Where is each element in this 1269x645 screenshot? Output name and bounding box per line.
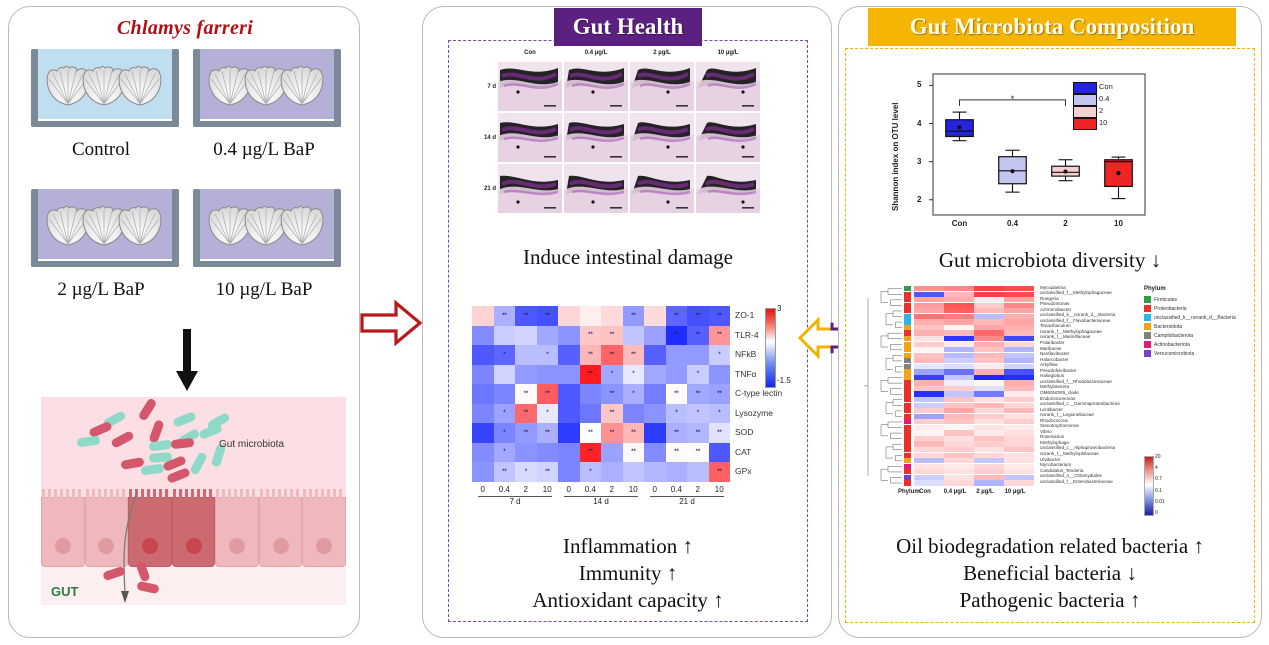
heatmap-cell: * — [709, 345, 731, 365]
phylum-color-bar — [904, 358, 911, 363]
conclusion-line: Inflammation ↑ — [448, 533, 808, 560]
taxa-heatmap-cell — [914, 342, 944, 347]
histology-image — [498, 62, 562, 111]
taxa-heatmap-cell — [914, 391, 944, 396]
heatmap-cell — [558, 306, 580, 326]
taxa-heatmap-cell — [974, 419, 1004, 424]
histology-image — [564, 113, 628, 162]
taxa-colorbar-tick: 0 — [1155, 510, 1158, 516]
boxplot-legend-swatch — [1073, 106, 1097, 118]
taxa-heatmap-cell — [974, 469, 1004, 474]
taxa-heatmap-cell — [974, 325, 1004, 330]
significance-marker: ** — [610, 410, 614, 417]
taxa-heatmap-cell — [944, 286, 974, 291]
taxa-heatmap-cell — [1004, 403, 1034, 408]
taxa-heatmap-cell — [914, 386, 944, 391]
significance-marker: * — [503, 410, 505, 417]
phylum-color-bar — [904, 292, 911, 297]
boxplot-legend-label: Con — [1099, 82, 1113, 91]
heatmap-cell: ** — [537, 306, 559, 326]
taxa-heatmap-cell — [914, 408, 944, 413]
taxa-heatmap-cell — [944, 375, 974, 380]
conclusion-line: Antioxidant capacity ↑ — [448, 587, 808, 614]
heatmap-cell — [687, 462, 709, 482]
heatmap-cell — [644, 443, 666, 463]
phylum-color-bar — [904, 369, 911, 374]
colorbar-max-label: 3 — [777, 304, 781, 313]
taxa-heatmap-cell — [974, 380, 1004, 385]
boxplot-y-tick: 5 — [917, 80, 921, 89]
boxplot-legend-swatch — [1073, 82, 1097, 94]
significance-marker: ** — [631, 429, 635, 436]
taxa-heatmap-cell — [1004, 425, 1034, 430]
taxa-heatmap-cell — [944, 358, 974, 363]
significance-marker: * — [503, 429, 505, 436]
histology-image — [498, 113, 562, 162]
taxa-heatmap-cell — [974, 330, 1004, 335]
phylum-legend-swatch — [1144, 350, 1151, 357]
phylum-color-bar — [904, 458, 911, 463]
heatmap-cell — [644, 326, 666, 346]
heatmap-cell — [709, 365, 731, 385]
heatmap-cell — [644, 306, 666, 326]
phylum-color-bar — [904, 441, 911, 446]
significance-marker: ** — [631, 312, 635, 319]
phylum-color-bar — [904, 347, 911, 352]
histology-row — [498, 113, 760, 162]
taxa-heatmap-cell — [914, 375, 944, 380]
heatmap-row-label: Lysozyme — [730, 404, 782, 424]
significance-marker: * — [589, 468, 591, 475]
heatmap-group-label: 21 d — [650, 497, 724, 506]
significance-marker: * — [718, 351, 720, 358]
histology-image — [564, 62, 628, 111]
taxa-heatmap-cell — [944, 436, 974, 441]
heatmap-cell: ** — [601, 384, 623, 404]
phylum-color-bar — [904, 391, 911, 396]
heatmap-cell: ** — [666, 326, 688, 346]
taxa-heatmap-cell — [1004, 414, 1034, 419]
mid-conclusions: Inflammation ↑Immunity ↑Antioxidant capa… — [448, 533, 808, 614]
heatmap-cell — [515, 326, 537, 346]
gut-submucosa — [41, 567, 346, 605]
heatmap-x-tick: 10 — [537, 485, 559, 494]
significance-marker: ** — [545, 390, 549, 397]
heatmap-cell — [515, 443, 537, 463]
taxa-heatmap-cell — [974, 353, 1004, 358]
significance-marker: ** — [696, 332, 700, 339]
taxa-heatmap-cell — [974, 303, 1004, 308]
taxa-row-label: norank_f__Methylophilaceae — [1040, 452, 1099, 457]
significance-marker: ** — [610, 351, 614, 358]
tank-wall-left — [193, 189, 200, 267]
tank-floor — [193, 121, 341, 127]
heatmap-cell — [644, 404, 666, 424]
taxa-heatmap-cell — [974, 297, 1004, 302]
conclusion-line: Immunity ↑ — [448, 560, 808, 587]
phylum-color-bar — [904, 408, 911, 413]
boxplot-x-label: Con — [933, 219, 986, 228]
heatmap-cell: ** — [687, 384, 709, 404]
heatmap-cell — [472, 365, 494, 385]
heatmap-cell — [644, 384, 666, 404]
heatmap-cell: ** — [515, 423, 537, 443]
phylum-color-bar — [904, 464, 911, 469]
taxa-heatmap-cell — [1004, 330, 1034, 335]
phylum-legend-swatch — [1144, 305, 1151, 312]
taxa-heatmap-cell — [914, 330, 944, 335]
taxa-heatmap-cell — [1004, 430, 1034, 435]
heatmap-x-tick: 2 — [515, 485, 537, 494]
taxa-heatmap-cell — [1004, 447, 1034, 452]
taxa-heatmap-cell — [974, 447, 1004, 452]
heatmap-cell: * — [537, 345, 559, 365]
taxa-heatmap-cell — [944, 430, 974, 435]
taxa-heatmap-cell — [1004, 303, 1034, 308]
heatmap-cell — [623, 462, 645, 482]
significance-marker: ** — [502, 312, 506, 319]
heatmap-row-label: SOD — [730, 423, 782, 443]
taxa-x-label: Con — [910, 489, 940, 495]
taxa-row-label: Neoflavibacter — [1040, 352, 1069, 357]
taxa-heatmap-cell — [914, 380, 944, 385]
taxa-heatmap-cell — [944, 425, 974, 430]
taxa-x-label: 10 µg/L — [1000, 489, 1030, 495]
taxa-heatmap-cell — [944, 347, 974, 352]
epithelial-cell — [215, 497, 259, 567]
significance-marker: ** — [674, 429, 678, 436]
epithelial-cell — [259, 497, 303, 567]
boxplot-y-tick: 3 — [917, 157, 921, 166]
taxa-heatmap-cell — [944, 353, 974, 358]
gene-expression-heatmap: **************ZO-1**********TLR-4*******… — [472, 306, 782, 506]
heatmap-group-label: 14 d — [564, 497, 638, 506]
scallop-group — [207, 205, 315, 245]
heatmap-cell — [472, 423, 494, 443]
taxa-heatmap-cell — [974, 358, 1004, 363]
taxa-heatmap-cell — [944, 464, 974, 469]
heatmap-cell: ** — [666, 384, 688, 404]
significance-marker: ** — [696, 429, 700, 436]
heatmap-cell: ** — [580, 326, 602, 346]
taxa-heatmap-cell — [1004, 358, 1034, 363]
histology-col-label: 10 µg/L — [696, 50, 760, 56]
taxa-heatmap-cell — [1004, 314, 1034, 319]
taxa-heatmap-cell — [944, 342, 974, 347]
taxa-colorbar-tick: 0.7 — [1155, 476, 1162, 482]
boxplot-legend-swatch — [1073, 118, 1097, 130]
taxa-heatmap-cell — [974, 480, 1004, 485]
taxa-colorbar-tick: 20 — [1155, 454, 1161, 460]
taxa-heatmap-cell — [944, 391, 974, 396]
heatmap-cell: ** — [666, 443, 688, 463]
heatmap-cell: ** — [580, 345, 602, 365]
significance-marker: ** — [545, 429, 549, 436]
taxa-heatmap-cell — [974, 375, 1004, 380]
tank-bap-2 — [29, 189, 181, 267]
tank-bap-0.4 — [191, 49, 343, 127]
taxa-row-label: unclassified_c__Gammaproteobacteria — [1040, 402, 1120, 407]
phylum-color-bar — [904, 286, 911, 291]
taxa-heatmap-cell — [914, 369, 944, 374]
boxplot-x-label: 0.4 — [986, 219, 1039, 228]
heatmap-x-tick: 0 — [644, 485, 666, 494]
heatmap-cell — [558, 462, 580, 482]
heatmap-cell: * — [687, 404, 709, 424]
significance-marker: ** — [674, 312, 678, 319]
taxa-heatmap-cell — [914, 336, 944, 341]
taxa-row-label: Polaribacter — [1040, 341, 1065, 346]
taxa-heatmap-cell — [974, 441, 1004, 446]
heatmap-cell: ** — [580, 423, 602, 443]
phylum-color-bar — [904, 475, 911, 480]
histology-col-label: 2 µg/L — [630, 50, 694, 56]
heatmap-cell: * — [494, 345, 516, 365]
significance-marker: ** — [631, 351, 635, 358]
taxa-heatmap-cell — [914, 353, 944, 358]
cell-nucleus — [98, 538, 114, 554]
heatmap-x-tick: 0 — [472, 485, 494, 494]
heatmap-grid: **************ZO-1**********TLR-4*******… — [472, 306, 782, 482]
significance-marker: ** — [524, 390, 528, 397]
heatmap-x-tick: 0.4 — [580, 485, 602, 494]
heatmap-cell: * — [687, 365, 709, 385]
taxa-heatmap-cell — [1004, 391, 1034, 396]
histology-image — [630, 164, 694, 213]
banner-gut-health: Gut Health — [554, 8, 702, 46]
caption-intestinal-damage: Induce intestinal damage — [448, 245, 808, 270]
heatmap-cell: * — [709, 404, 731, 424]
boxplot-x-label: 2 — [1039, 219, 1092, 228]
heatmap-cell: ** — [494, 462, 516, 482]
heatmap-cell — [515, 365, 537, 385]
heatmap-row-label: CAT — [730, 443, 782, 463]
phylum-color-bar — [904, 469, 911, 474]
phylum-color-bar — [904, 297, 911, 302]
scallop-group — [207, 65, 315, 105]
taxa-heatmap-cell — [914, 325, 944, 330]
histology-row — [498, 62, 760, 111]
histology-col-label: 0.4 µg/L — [564, 50, 628, 56]
taxa-heatmap-cell — [944, 419, 974, 424]
tank-wall-right — [334, 189, 341, 267]
heatmap-cell: ** — [494, 306, 516, 326]
heatmap-cell — [494, 384, 516, 404]
heatmap-cell: ** — [709, 462, 731, 482]
taxa-heatmap-cell — [1004, 325, 1034, 330]
heatmap-cell — [472, 443, 494, 463]
significance-marker: ** — [545, 468, 549, 475]
heatmap-cell: ** — [709, 326, 731, 346]
tank-wall-right — [334, 49, 341, 127]
histology-image — [630, 62, 694, 111]
heatmap-cell — [623, 404, 645, 424]
taxa-colorbar — [1144, 456, 1154, 516]
heatmap-cell: ** — [687, 326, 709, 346]
heatmap-cell — [515, 345, 537, 365]
significance-marker: * — [546, 410, 548, 417]
heatmap-cell: ** — [580, 443, 602, 463]
heatmap-cell — [558, 423, 580, 443]
taxa-heatmap-cell — [914, 292, 944, 297]
taxa-heatmap-cell — [974, 347, 1004, 352]
taxa-heatmap-cell — [1004, 380, 1034, 385]
taxa-heatmap-cell — [944, 441, 974, 446]
taxa-heatmap-cell — [1004, 347, 1034, 352]
tank-control — [29, 49, 181, 127]
heatmap-cell: ** — [709, 306, 731, 326]
heatmap-cell: * — [623, 384, 645, 404]
taxa-heatmap: Mycoplasmaunclassified_f__Methylophagace… — [862, 284, 1262, 529]
taxa-heatmap-cell — [974, 342, 1004, 347]
conclusion-line: Oil biodegradation related bacteria ↑ — [845, 533, 1255, 560]
banner-microbiota: Gut Microbiota Composition — [868, 8, 1236, 46]
significance-marker: ** — [588, 429, 592, 436]
significance-marker: ** — [610, 332, 614, 339]
caption-microbiota-diversity: Gut microbiota diversity ↓ — [845, 248, 1255, 273]
significance-marker: ** — [717, 312, 721, 319]
taxa-heatmap-cell — [944, 308, 974, 313]
taxa-heatmap-cell — [914, 436, 944, 441]
scallop-group — [45, 65, 153, 105]
taxa-heatmap-cell — [1004, 419, 1034, 424]
taxa-heatmap-cell — [1004, 292, 1034, 297]
phylum-color-bar — [904, 319, 911, 324]
down-arrow-icon — [176, 329, 198, 391]
heatmap-cell — [558, 345, 580, 365]
heatmap-cell: ** — [687, 443, 709, 463]
heatmap-cell — [472, 384, 494, 404]
heatmap-cell — [494, 326, 516, 346]
taxa-heatmap-cell — [974, 308, 1004, 313]
conclusion-line: Beneficial bacteria ↓ — [845, 560, 1255, 587]
heatmap-cell: ** — [687, 306, 709, 326]
taxa-heatmap-cell — [1004, 408, 1034, 413]
phylum-legend-swatch — [1144, 296, 1151, 303]
phylum-color-bar — [904, 380, 911, 385]
scallop-icon — [279, 65, 323, 105]
shannon-index-boxplot: *Shannon index on OTU level2345Con0.4210… — [893, 64, 1153, 239]
taxa-heatmap-cell — [944, 414, 974, 419]
heatmap-cell: ** — [687, 423, 709, 443]
taxa-heatmap-cell — [944, 330, 974, 335]
significance-marker: * — [697, 371, 699, 378]
significance-marker: * — [632, 390, 634, 397]
taxa-heatmap-cell — [944, 292, 974, 297]
red-right-arrow-icon — [360, 300, 422, 346]
taxa-heatmap-cell — [944, 325, 974, 330]
epithelial-cell — [302, 497, 346, 567]
gut-microbiota-label: Gut microbiota — [219, 439, 284, 450]
epithelial-cell — [41, 497, 85, 567]
tank-wall-left — [31, 49, 38, 127]
heatmap-cell: * — [601, 365, 623, 385]
taxa-heatmap-cell — [914, 475, 944, 480]
taxa-colorbar-tick: 0.1 — [1155, 488, 1162, 494]
taxa-heatmap-cell — [974, 336, 1004, 341]
taxa-heatmap-cell — [914, 480, 944, 485]
taxa-heatmap-cell — [914, 319, 944, 324]
significance-marker: * — [525, 468, 527, 475]
species-title: Chlamys farreri — [9, 17, 361, 40]
taxa-heatmap-cell — [944, 380, 974, 385]
heatmap-x-tick: 2 — [601, 485, 623, 494]
phylum-legend-item: unclassified_k__norank_d__Bacteria — [1144, 314, 1236, 321]
histology-image — [498, 164, 562, 213]
boxplot-x-label: 10 — [1092, 219, 1145, 228]
tank-floor — [31, 261, 179, 267]
taxa-heatmap-cell — [1004, 336, 1034, 341]
phylum-color-bar — [904, 403, 911, 408]
heatmap-cell: ** — [537, 462, 559, 482]
significance-marker: ** — [588, 371, 592, 378]
significance-marker: ** — [524, 312, 528, 319]
heatmap-cell: * — [494, 443, 516, 463]
tank-label-bap-2: 2 µg/L BaP — [16, 279, 186, 301]
tank-label-control: Control — [16, 139, 186, 161]
heatmap-cell — [558, 404, 580, 424]
taxa-heatmap-cell — [914, 347, 944, 352]
significance-marker: ** — [674, 449, 678, 456]
taxa-row-label: unclassified_f__Enterobacteriaceae — [1040, 480, 1113, 485]
scallop-icon — [279, 205, 323, 245]
phylum-legend-item: Verrucomicrobiota — [1144, 350, 1194, 357]
heatmap-x-tick: 0.4 — [666, 485, 688, 494]
phylum-color-bar — [904, 325, 911, 330]
taxa-heatmap-cell — [974, 408, 1004, 413]
histology-image — [630, 113, 694, 162]
taxa-heatmap-cell — [1004, 353, 1034, 358]
phylum-color-bar — [904, 430, 911, 435]
svg-text:*: * — [1011, 94, 1015, 104]
significance-marker: ** — [610, 429, 614, 436]
taxa-heatmap-cell — [914, 403, 944, 408]
taxa-heatmap-cell — [974, 475, 1004, 480]
significance-marker: ** — [588, 332, 592, 339]
epithelium-row — [41, 497, 346, 567]
microvilli — [216, 489, 258, 499]
taxa-heatmap-cell — [974, 369, 1004, 374]
phylum-legend-swatch — [1144, 341, 1151, 348]
heatmap-cell: * — [494, 404, 516, 424]
significance-marker: * — [718, 410, 720, 417]
significance-marker: ** — [674, 332, 678, 339]
heatmap-cell — [666, 345, 688, 365]
microvilli — [173, 489, 215, 499]
histology-image — [696, 62, 760, 111]
phylum-color-bar — [904, 353, 911, 358]
taxa-heatmap-cell — [974, 314, 1004, 319]
taxa-heatmap-cell — [1004, 364, 1034, 369]
significance-marker: ** — [588, 449, 592, 456]
taxa-heatmap-cell — [1004, 286, 1034, 291]
microvilli — [303, 489, 345, 499]
taxa-heatmap-cell — [914, 308, 944, 313]
boxplot-legend-label: 0.4 — [1099, 94, 1109, 103]
taxa-heatmap-cell — [1004, 436, 1034, 441]
heatmap-cell — [472, 404, 494, 424]
taxa-heatmap-cell — [944, 303, 974, 308]
heatmap-cell — [644, 365, 666, 385]
boxplot-y-tick: 4 — [917, 119, 921, 128]
phylum-color-bar — [904, 436, 911, 441]
heatmap-x-tick: 0.4 — [494, 485, 516, 494]
phylum-color-bar — [904, 342, 911, 347]
cell-nucleus — [186, 538, 202, 554]
significance-marker: ** — [696, 449, 700, 456]
taxa-heatmap-cell — [914, 397, 944, 402]
heatmap-cell — [558, 365, 580, 385]
